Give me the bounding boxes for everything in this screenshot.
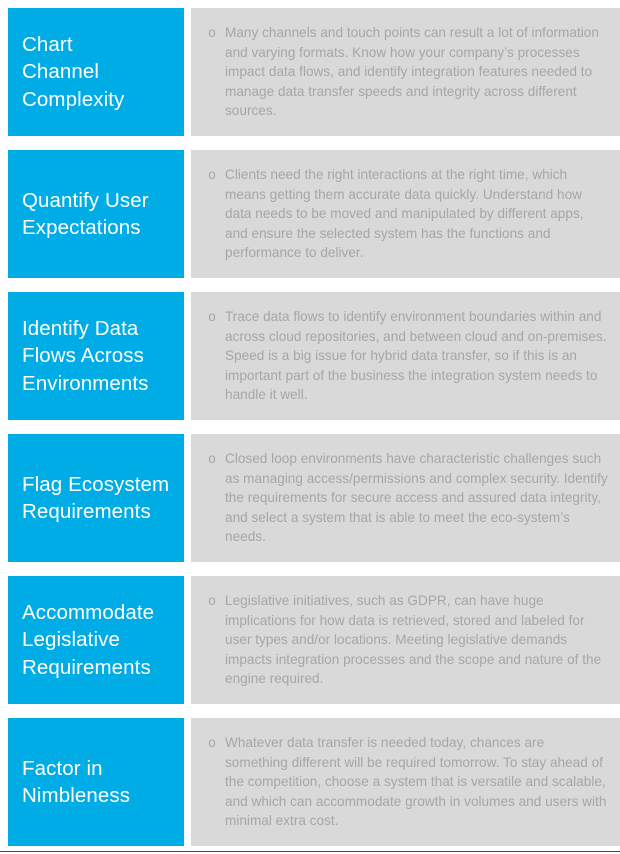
row-description: Legislative initiatives, such as GDPR, c… [225,591,612,688]
circle-bullet-icon: o [199,165,225,184]
row-description-panel: o Clients need the right interactions at… [191,150,620,278]
circle-bullet-icon: o [199,591,225,610]
row-description: Whatever data transfer is needed today, … [225,733,612,830]
bullet-row: o Whatever data transfer is needed today… [199,733,612,830]
row-title: Flag Ecosystem Requirements [22,471,169,526]
row-description-panel: o Many channels and touch points can res… [191,8,620,136]
list-item: Chart Channel Complexity o Many channels… [0,8,620,136]
row-description-panel: o Trace data flows to identify environme… [191,292,620,420]
list-item: Accommodate Legislative Requirements o L… [0,576,620,704]
bullet-row: o Legislative initiatives, such as GDPR,… [199,591,612,688]
row-title-panel: Identify Data Flows Across Environments [8,292,184,420]
row-description: Clients need the right interactions at t… [225,165,612,262]
bullet-row: o Trace data flows to identify environme… [199,307,612,404]
row-title: Quantify User Expectations [22,187,149,242]
row-title: Factor in Nimbleness [22,755,130,810]
list-item: Flag Ecosystem Requirements o Closed loo… [0,434,620,562]
bottom-divider [0,851,620,853]
slide-canvas: Chart Channel Complexity o Many channels… [0,0,620,854]
row-title: Identify Data Flows Across Environments [22,315,149,397]
bullet-row: o Closed loop environments have characte… [199,449,612,546]
row-title-panel: Accommodate Legislative Requirements [8,576,184,704]
bullet-row: o Clients need the right interactions at… [199,165,612,262]
circle-bullet-icon: o [199,23,225,42]
circle-bullet-icon: o [199,733,225,752]
circle-bullet-icon: o [199,307,225,326]
row-description: Closed loop environments have characteri… [225,449,612,546]
list-item: Quantify User Expectations o Clients nee… [0,150,620,278]
row-title-panel: Factor in Nimbleness [8,718,184,846]
row-description: Many channels and touch points can resul… [225,23,612,120]
row-title-panel: Chart Channel Complexity [8,8,184,136]
row-title-panel: Flag Ecosystem Requirements [8,434,184,562]
row-title: Chart Channel Complexity [22,31,124,113]
row-description-panel: o Whatever data transfer is needed today… [191,718,620,846]
list-item: Factor in Nimbleness o Whatever data tra… [0,718,620,846]
circle-bullet-icon: o [199,449,225,468]
bullet-row: o Many channels and touch points can res… [199,23,612,120]
row-description-panel: o Closed loop environments have characte… [191,434,620,562]
row-description: Trace data flows to identify environment… [225,307,612,404]
row-description-panel: o Legislative initiatives, such as GDPR,… [191,576,620,704]
row-title: Accommodate Legislative Requirements [22,599,154,681]
row-title-panel: Quantify User Expectations [8,150,184,278]
criteria-list: Chart Channel Complexity o Many channels… [0,0,620,846]
list-item: Identify Data Flows Across Environments … [0,292,620,420]
